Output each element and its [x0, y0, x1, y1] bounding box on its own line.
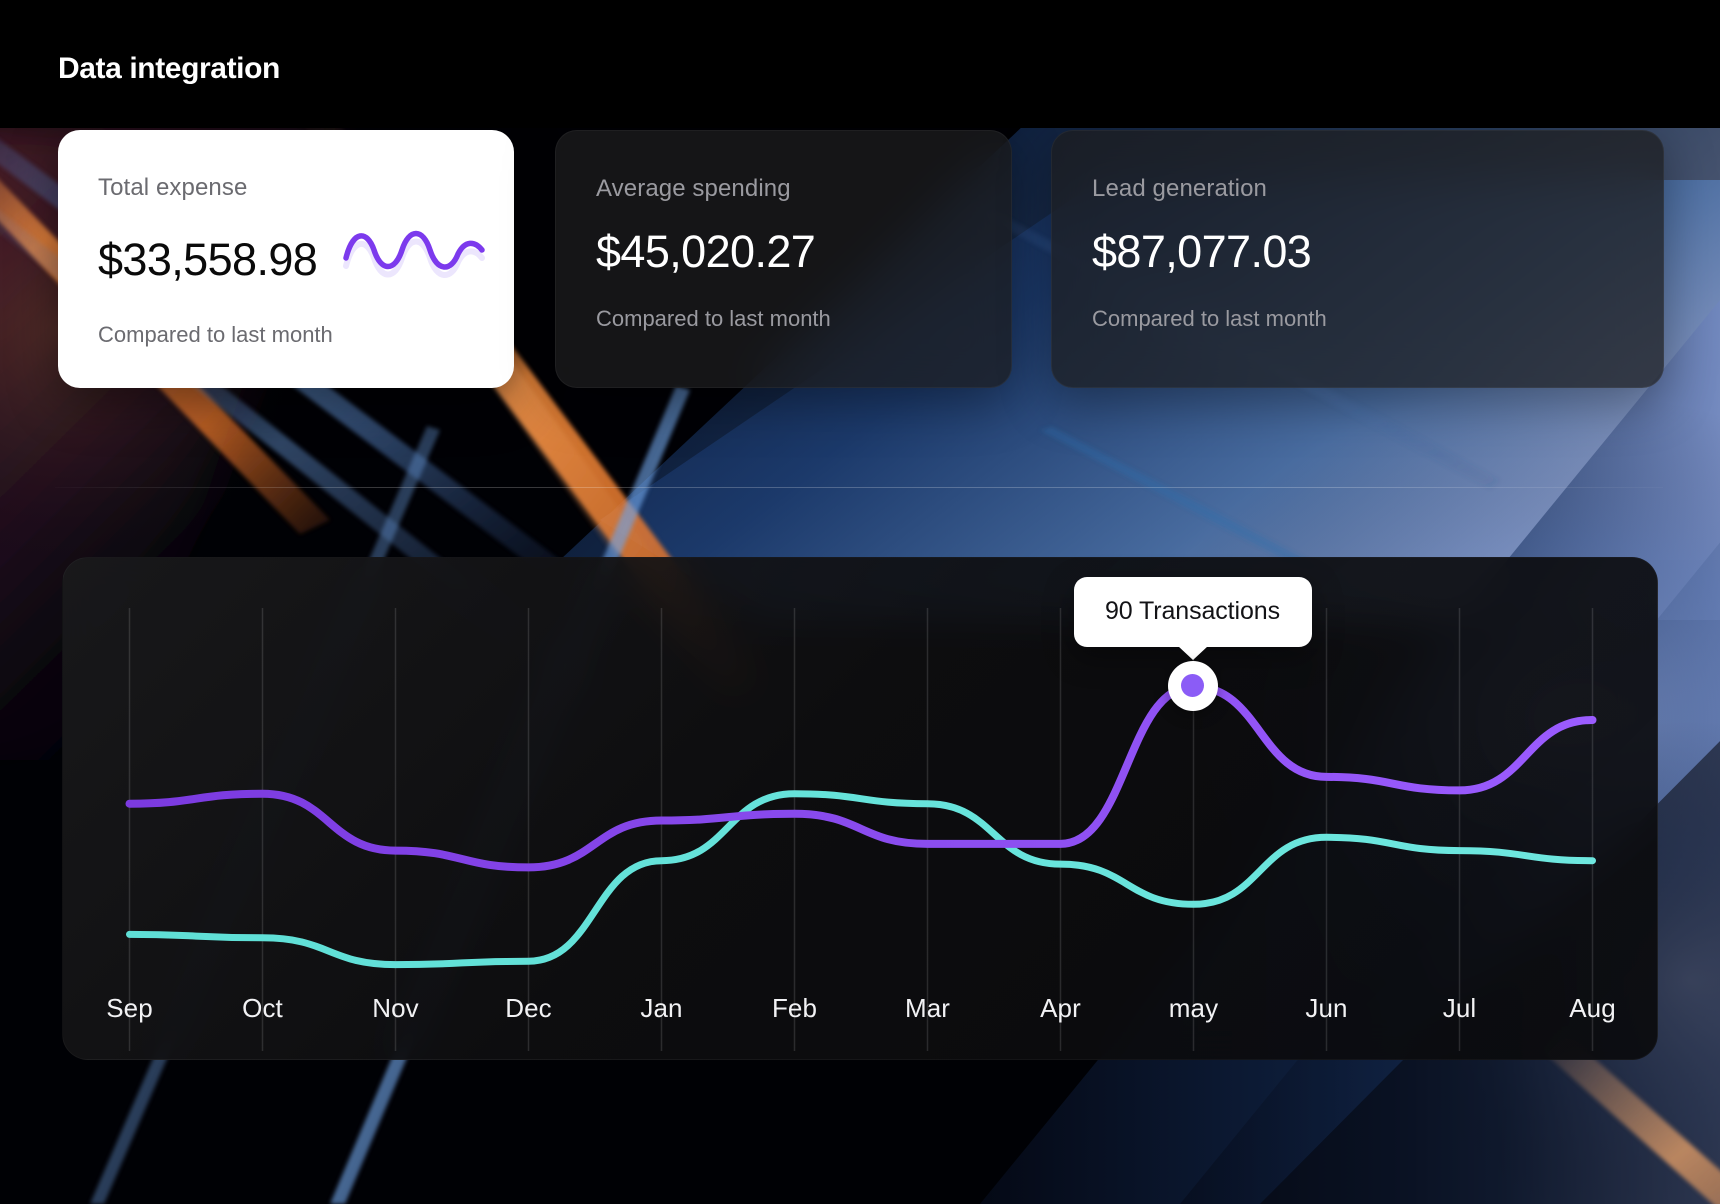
x-axis-tick-nov: Nov [329, 978, 462, 1038]
x-axis-tick-oct: Oct [196, 978, 329, 1038]
x-axis-tick-dec: Dec [462, 978, 595, 1038]
chart-highlight-marker[interactable] [1168, 661, 1218, 711]
sine-wave-sparkline-icon [343, 228, 485, 290]
stat-card-value-row: $33,558.98 [98, 228, 474, 290]
x-axis-tick-jul: Jul [1393, 978, 1526, 1038]
stat-card-lead-generation[interactable]: Lead generation $87,077.03 Compared to l… [1051, 130, 1664, 388]
x-axis-tick-mar: Mar [861, 978, 994, 1038]
stat-card-subtitle: Compared to last month [1092, 308, 1623, 330]
section-divider [55, 487, 1663, 488]
x-axis-tick-may: may [1127, 978, 1260, 1038]
stat-card-label: Total expense [98, 176, 474, 200]
stat-card-value-row: $45,020.27 [596, 229, 971, 274]
x-axis-tick-aug: Aug [1526, 978, 1659, 1038]
chart-tooltip-arrow-icon [1178, 646, 1208, 660]
stat-card-value-row: $87,077.03 [1092, 229, 1623, 274]
chart-tooltip[interactable]: 90 Transactions [1074, 577, 1312, 647]
stat-card-subtitle: Compared to last month [596, 308, 971, 330]
stat-card-value: $87,077.03 [1092, 229, 1311, 274]
x-axis-tick-apr: Apr [994, 978, 1127, 1038]
stat-card-average-spending[interactable]: Average spending $45,020.27 Compared to … [555, 130, 1012, 388]
x-axis-tick-jun: Jun [1260, 978, 1393, 1038]
stat-card-total-expense[interactable]: Total expense $33,558.98 Compared to las… [58, 130, 514, 388]
dashboard-page: Data integration Total expense $33,558.9… [0, 0, 1720, 1204]
chart-series-spending [130, 794, 1593, 965]
page-title: Data integration [58, 52, 280, 86]
stat-card-subtitle: Compared to last month [98, 324, 474, 346]
x-axis-tick-sep: Sep [63, 978, 196, 1038]
x-axis-tick-feb: Feb [728, 978, 861, 1038]
stat-card-value: $45,020.27 [596, 229, 815, 274]
transactions-chart-panel[interactable]: SepOctNovDecJanFebMarAprmayJunJulAug [62, 557, 1658, 1060]
stat-card-label: Average spending [596, 177, 971, 201]
chart-highlight-marker-dot-icon [1181, 674, 1204, 697]
stat-card-row: Total expense $33,558.98 Compared to las… [58, 130, 1664, 388]
x-axis-tick-jan: Jan [595, 978, 728, 1038]
stat-card-value: $33,558.98 [98, 237, 317, 282]
stat-card-label: Lead generation [1092, 177, 1623, 201]
chart-x-axis: SepOctNovDecJanFebMarAprmayJunJulAug [63, 978, 1659, 1038]
chart-tooltip-label: 90 Transactions [1105, 597, 1280, 626]
